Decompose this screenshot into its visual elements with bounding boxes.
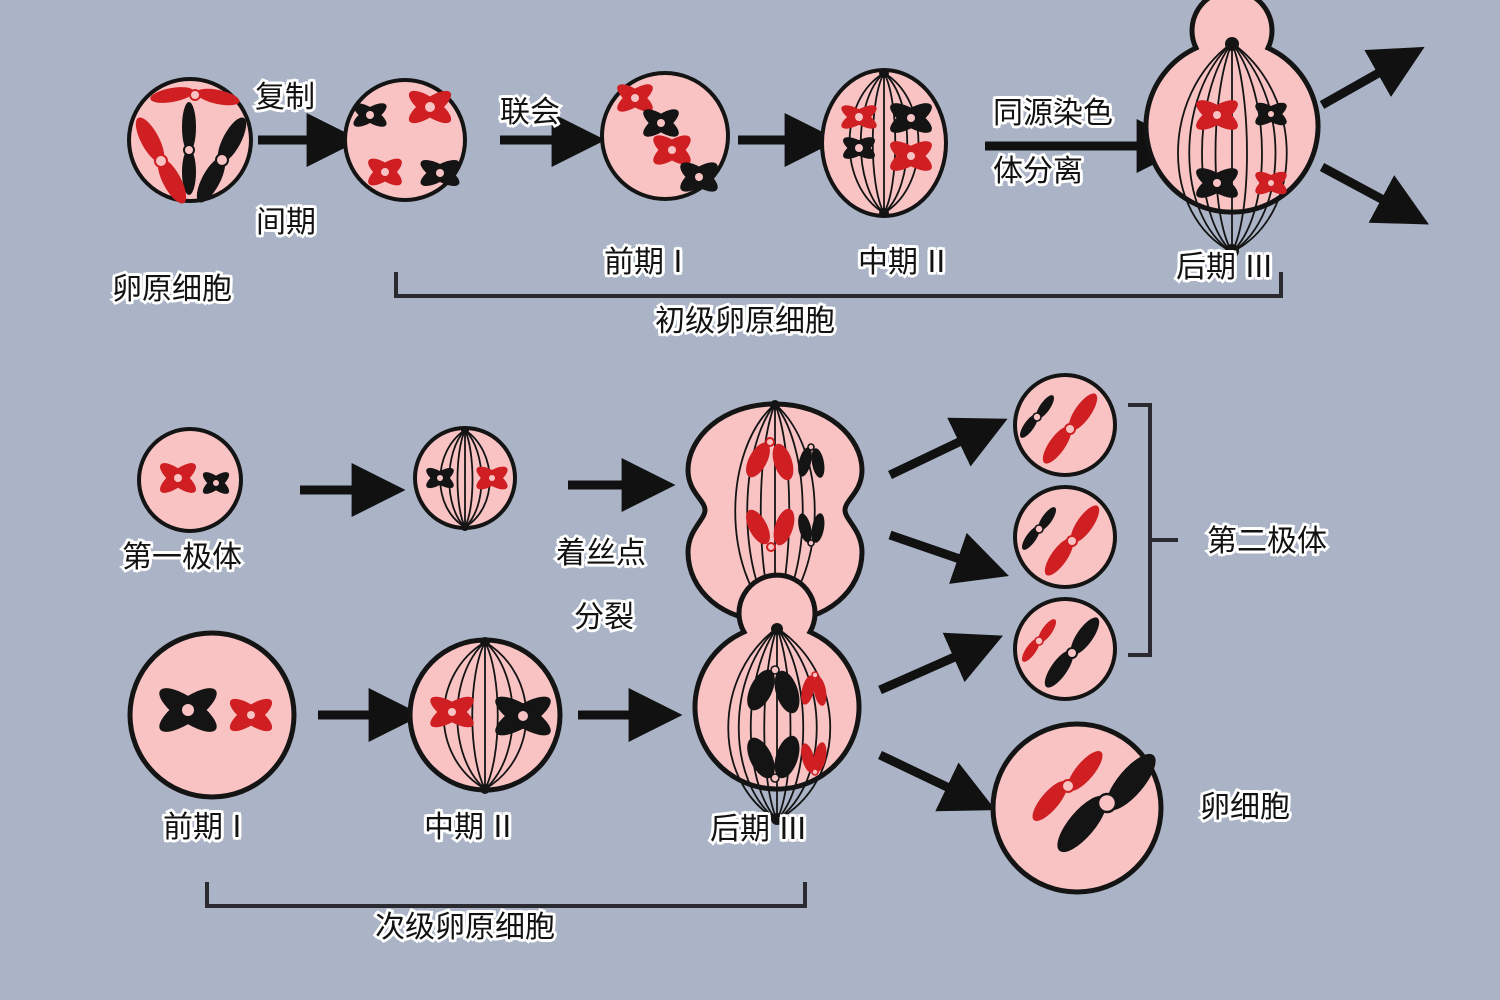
label-homolog-separation-line2: 体分离 [993, 154, 1083, 189]
cell-anaphase-3-lower [695, 575, 859, 825]
label-metaphase-2: 中期 II [858, 245, 945, 280]
spindle-pole [480, 784, 490, 794]
label-centromere-split-line1: 着丝点 [556, 536, 646, 571]
label-egg-cell: 卵细胞 [1200, 790, 1290, 825]
spindle-pole [879, 208, 889, 218]
cell-first-polar-body [139, 429, 241, 531]
cell-egg [993, 724, 1163, 892]
label-oogonium: 卵原细胞 [112, 272, 232, 307]
label-prophase-1: 前期 I [604, 245, 682, 280]
cell-second-polar-body-3 [1015, 599, 1115, 699]
arrow-to-second-polar-1 [890, 432, 980, 475]
label-homolog-separation-line1: 同源染色 [993, 96, 1113, 131]
cell-prophase-1-lower [130, 633, 294, 797]
label-second-polar-body: 第二极体 [1207, 524, 1327, 559]
bracket-secondary-oogonium [207, 882, 805, 906]
label-synapsis: 联会 [500, 95, 560, 130]
arrow-to-egg-cell [880, 755, 968, 797]
label-primary-oogonium: 初级卵原细胞 [655, 304, 835, 339]
spindle-pole [1225, 37, 1239, 51]
spindle-pole [461, 523, 469, 531]
arrow-to-second-polar-2 [890, 535, 980, 566]
cell-second-polar-body-1 [1015, 375, 1115, 475]
chromosome-black [182, 102, 196, 195]
label-interphase: 间期 [256, 205, 316, 240]
cell-prophase-1 [602, 73, 728, 199]
cell-interphase [345, 80, 465, 200]
arrow-split-down [1322, 167, 1402, 210]
bracket-primary-oogonium [396, 272, 1281, 296]
spindle-pole [480, 637, 490, 647]
spindle-pole [461, 426, 469, 434]
spindle-pole [879, 68, 889, 78]
cell-polar-metaphase [415, 426, 515, 531]
bracket-second-polar-body [1128, 405, 1178, 655]
cell-metaphase-2 [822, 68, 946, 218]
label-secondary-oogonium: 次级卵原细胞 [375, 910, 555, 945]
cell-oogonium [129, 79, 252, 207]
label-metaphase-2-lower: 中期 II [424, 810, 511, 845]
label-prophase-1-lower: 前期 I [163, 810, 241, 845]
label-replicate: 复制 [255, 80, 315, 115]
arrow-split-up [1322, 62, 1398, 105]
meiosis-diagram-canvas: 复制 间期 卵原细胞 联会 前期 I 中期 II 同源染色 体分离 后期 III… [0, 0, 1500, 1000]
cell-metaphase-2-lower [410, 637, 560, 794]
cell-anaphase-3 [1146, 0, 1318, 258]
label-anaphase-3-lower: 后期 III [710, 812, 806, 847]
diagram-svg [0, 0, 1500, 1000]
cell-second-polar-body-2 [1015, 487, 1115, 587]
spindle-pole [770, 400, 780, 410]
label-centromere-split-line2: 分裂 [574, 600, 634, 635]
arrow-to-second-polar-3 [880, 648, 975, 690]
label-anaphase-3: 后期 III [1176, 250, 1272, 285]
label-first-polar-body: 第一极体 [122, 540, 242, 575]
spindle-pole [771, 623, 783, 635]
